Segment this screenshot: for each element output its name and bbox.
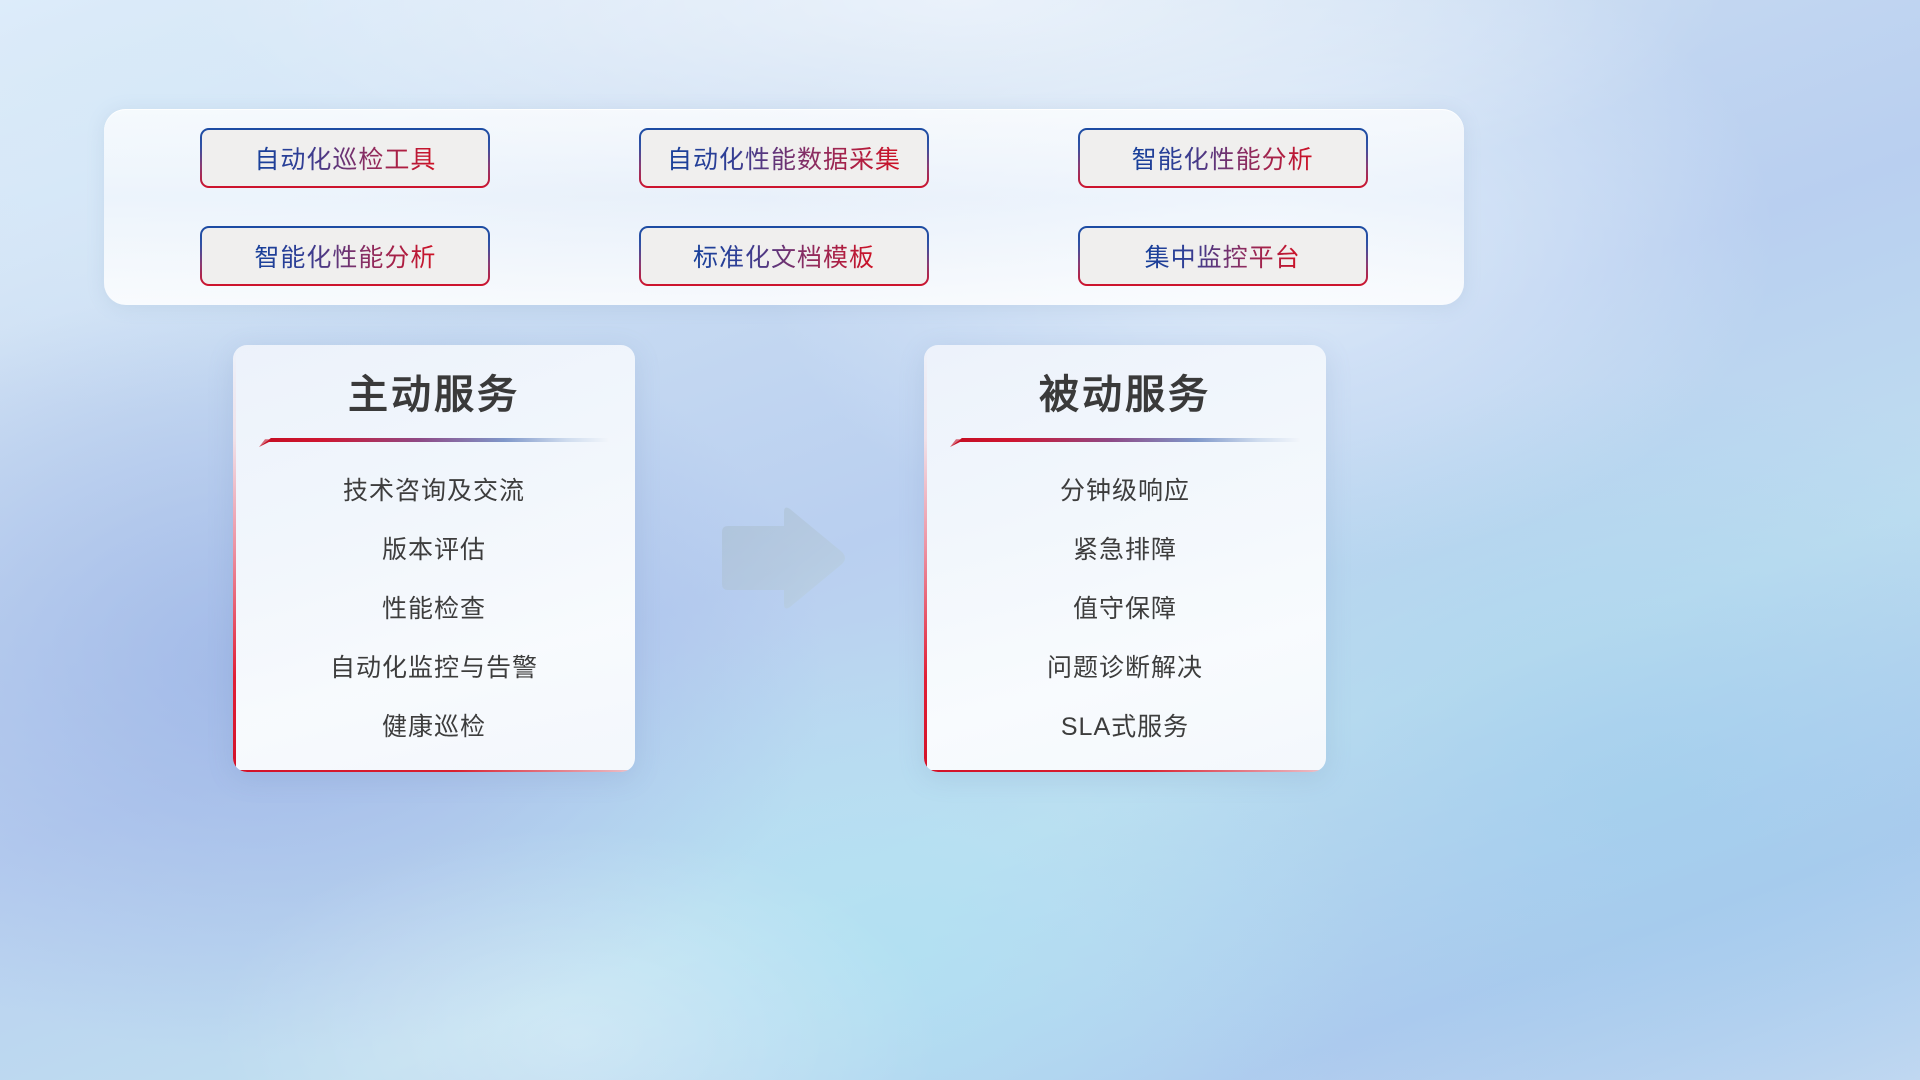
capability-pill[interactable]: 智能化性能分析 [200,226,490,286]
service-card-reactive: 被动服务 分钟级响应 紧急排障 [924,345,1326,772]
capability-pill-label: 自动化巡检工具 [254,140,436,176]
list-item: 问题诊断解决 [1047,639,1203,698]
list-item: SLA式服务 [1061,698,1189,757]
list-item: 紧急排障 [1073,521,1177,580]
service-card-proactive: 主动服务 技术咨询及交流 版本评估 [233,345,635,772]
list-item: 技术咨询及交流 [343,462,525,521]
capability-pill[interactable]: 自动化巡检工具 [200,128,490,188]
list-item: 自动化监控与告警 [330,639,538,698]
capability-pill-label: 标准化文档模板 [693,238,875,274]
capability-pill-label: 自动化性能数据采集 [667,140,901,176]
card-divider [259,437,609,448]
right-arrow-icon [716,504,848,612]
service-item-list: 分钟级响应 紧急排障 值守保障 问题诊断解决 SLA式服务 [924,462,1326,757]
list-item: 值守保障 [1073,580,1177,639]
capability-pill-label: 智能化性能分析 [1132,140,1314,176]
list-item: 版本评估 [382,521,486,580]
card-divider [950,437,1300,448]
card-title: 被动服务 [1039,371,1211,419]
list-item: 分钟级响应 [1060,462,1190,521]
service-item-list: 技术咨询及交流 版本评估 性能检查 自动化监控与告警 健康巡检 [233,462,635,757]
capability-pill[interactable]: 标准化文档模板 [639,226,929,286]
capability-pill-label: 智能化性能分析 [254,238,436,274]
capability-pill[interactable]: 智能化性能分析 [1078,128,1368,188]
list-item: 性能检查 [382,580,486,639]
capabilities-panel: 自动化巡检工具 自动化性能数据采集 智能化性能分析 智能化性能分析 标准化文档模… [104,109,1464,305]
capability-pill[interactable]: 自动化性能数据采集 [639,128,929,188]
capability-pill[interactable]: 集中监控平台 [1078,226,1368,286]
card-title: 主动服务 [348,371,520,419]
capability-pill-label: 集中监控平台 [1145,238,1301,274]
list-item: 健康巡检 [382,698,486,757]
